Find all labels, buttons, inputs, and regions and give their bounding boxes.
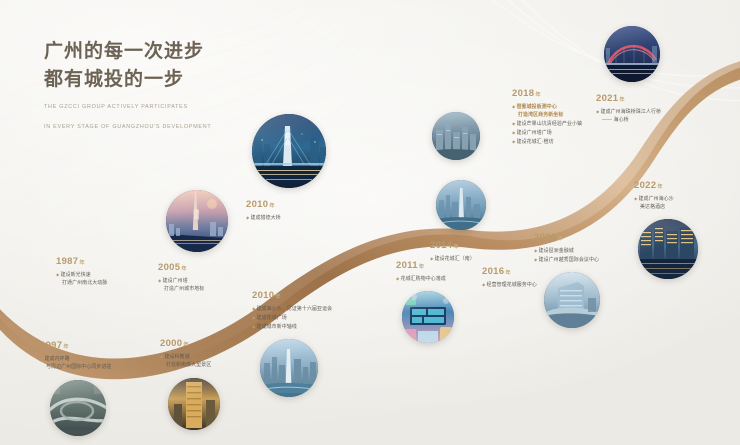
- node-items: ◆建设广州塔 ◆打造广州城市地标: [158, 277, 228, 294]
- node-year: 2021年: [596, 89, 661, 105]
- node-items: ◆建成猎德大桥: [246, 214, 326, 223]
- node-photo-hotel[interactable]: [638, 219, 698, 279]
- bullet-icon: ◆: [40, 356, 43, 361]
- node-meta: 2014年 ◆建设花城汇（南）: [430, 236, 486, 264]
- node-item: ◆建成内环路: [40, 355, 112, 364]
- photo-gloss: [544, 272, 600, 328]
- node-meta: 2005年 ◆建设广州塔 ◆打造广州城市地标: [158, 258, 228, 294]
- node-items: ◆建设琶洲金融城 ◆建设广州越秀国际会议中心: [534, 247, 600, 265]
- node-item: ◆建成广州海心沙: [634, 195, 698, 204]
- node-items: ◆建设科教城 ◆打造新南部大型景区: [160, 353, 220, 370]
- node-items: ◆经营管理花城服务中心: [482, 281, 537, 290]
- node-meta: 1997年 ◆建成内环路 ◆与周边广州国际中心同步进驻: [40, 336, 112, 372]
- node-item: ◆建设广州越秀国际会议中心: [534, 256, 600, 265]
- node-photo-business-hub[interactable]: [432, 112, 480, 160]
- node-meta: 2020年 ◆建设琶洲金融城 ◆建设广州越秀国际会议中心: [534, 228, 600, 265]
- timeline-node-asian-games[interactable]: 2010年 ◆建成海心沙，见证第十六届亚运会 ◆建成花城广场 ◆建成城市新中轴线: [252, 286, 332, 397]
- node-photo-asian-games[interactable]: [260, 339, 318, 397]
- bullet-icon: ◆: [158, 278, 161, 283]
- timeline-node-business-hub-photo[interactable]: [432, 112, 480, 160]
- node-item: ◆建设花城汇·橙坊: [512, 138, 582, 147]
- bullet-icon: ◆: [252, 306, 255, 311]
- timeline-node-ring-road[interactable]: 1997年 ◆建成内环路 ◆与周边广州国际中心同步进驻: [40, 336, 112, 436]
- timeline-node-haixinsha-bridge[interactable]: 2021年 ◆建成广州海珠桥珠江人行桥 ◆—— 海心桥: [596, 26, 661, 125]
- node-item-highlighted: ◆打造湾区商务新坐标: [512, 112, 582, 120]
- timeline-node-liede-bridge[interactable]: 2010年 ◆建成猎德大桥: [246, 114, 326, 223]
- bullet-icon: ◆: [252, 315, 255, 320]
- node-item: ◆建设广州塔: [158, 277, 228, 286]
- node-year: 2016年: [482, 262, 537, 278]
- node-items: ◆建成广州海珠桥珠江人行桥 ◆—— 海心桥: [596, 108, 661, 125]
- node-item: ◆建设花城汇（南）: [430, 255, 486, 264]
- node-year: 2005年: [158, 258, 228, 274]
- node-item: ◆建成城市新中轴线: [252, 323, 332, 332]
- node-item-highlighted: ◆琶氪城投板测中心: [512, 103, 582, 112]
- bullet-icon: ◆: [160, 354, 163, 359]
- node-photo-haixinsha-bridge[interactable]: [604, 26, 660, 82]
- bullet-icon: ◆: [56, 272, 59, 277]
- node-photo-ring-road[interactable]: [50, 380, 106, 436]
- bullet-icon: ◆: [252, 324, 255, 329]
- node-meta: 2021年 ◆建成广州海珠桥珠江人行桥 ◆—— 海心桥: [596, 89, 661, 125]
- bullet-icon: ◆: [512, 130, 515, 135]
- photo-gloss: [166, 190, 228, 252]
- timeline-node-hotel[interactable]: 2022年 ◆建成广州海心沙 ◆美达格酒店: [634, 176, 698, 279]
- bullet-icon: ◆: [246, 215, 249, 220]
- timeline-node-panyu-south[interactable]: 2014年 ◆建设花城汇（南）: [430, 180, 486, 264]
- node-photo-liede-bridge[interactable]: [252, 114, 326, 188]
- node-photo-hi-tech-zone[interactable]: [168, 378, 220, 430]
- bullet-icon: ◆: [596, 109, 599, 114]
- node-meta: 2018年 ◆琶氪城投板测中心 ◆打造湾区商务新坐标 ◆建设芒果山坑清经验产业小…: [512, 84, 582, 148]
- photo-gloss: [50, 380, 106, 436]
- node-meta: 1987年 ◆建设新光快速 ◆打通广州南北大动脉: [56, 252, 107, 288]
- photo-gloss: [436, 180, 486, 230]
- node-year: 2020年: [534, 228, 600, 244]
- node-items: ◆建成内环路 ◆与周边广州国际中心同步进驻: [40, 355, 112, 372]
- node-item: ◆与周边广州国际中心同步进驻: [40, 364, 112, 372]
- bullet-icon: ◆: [534, 248, 537, 253]
- photo-gloss: [432, 112, 480, 160]
- node-year: 2010年: [252, 286, 332, 302]
- timeline-node-huanshi-road[interactable]: 1987年 ◆建设新光快速 ◆打通广州南北大动脉: [56, 252, 107, 288]
- node-items: ◆建设花城汇（南）: [430, 255, 486, 264]
- node-items: ◆琶氪城投板测中心 ◆打造湾区商务新坐标 ◆建设芒果山坑清经验产业小镇 ◆建设广…: [512, 103, 582, 148]
- node-item: ◆建设琶洲金融城: [534, 247, 600, 256]
- timeline-node-jinrong-cheng[interactable]: 2020年 ◆建设琶洲金融城 ◆建设广州越秀国际会议中心: [534, 228, 600, 328]
- node-item: ◆建设广州塔广场: [512, 129, 582, 138]
- node-meta: 2000年 ◆建设科教城 ◆打造新南部大型景区: [160, 334, 220, 370]
- node-year: 1997年: [40, 336, 112, 352]
- node-photo-convention-center[interactable]: [544, 272, 600, 328]
- bullet-icon: ◆: [534, 257, 537, 262]
- photo-gloss: [604, 26, 660, 82]
- node-item: ◆建设新光快速: [56, 271, 107, 280]
- bullet-icon: ◆: [482, 282, 485, 287]
- timeline-node-canton-tower[interactable]: 2005年 ◆建设广州塔 ◆打造广州城市地标: [158, 190, 228, 294]
- node-items: ◆建成广州海心沙 ◆美达格酒店: [634, 195, 698, 212]
- bullet-icon: ◆: [430, 256, 433, 261]
- node-photo-canton-tower[interactable]: [166, 190, 228, 252]
- node-items: ◆建设新光快速 ◆打通广州南北大动脉: [56, 271, 107, 288]
- node-item: ◆打通广州南北大动脉: [56, 280, 107, 288]
- node-item: ◆建成花城广场: [252, 314, 332, 323]
- timeline-node-business-hub[interactable]: 2018年 ◆琶氪城投板测中心 ◆打造湾区商务新坐标 ◆建设芒果山坑清经验产业小…: [512, 84, 582, 148]
- node-item: ◆经营管理花城服务中心: [482, 281, 537, 290]
- photo-gloss: [402, 291, 454, 343]
- node-meta: 2010年 ◆建成猎德大桥: [246, 195, 326, 223]
- node-meta: 2016年 ◆经营管理花城服务中心: [482, 262, 537, 290]
- node-item: ◆花城汇购物中心落成: [396, 275, 454, 284]
- node-item: ◆建成海心沙，见证第十六届亚运会: [252, 305, 332, 314]
- node-photo-flower-city[interactable]: [402, 291, 454, 343]
- photo-gloss: [252, 114, 326, 188]
- node-item: ◆建设科教城: [160, 353, 220, 362]
- timeline-node-service-center[interactable]: 2016年 ◆经营管理花城服务中心: [482, 262, 537, 290]
- node-item: ◆建设芒果山坑清经验产业小镇: [512, 120, 582, 129]
- node-year: 2018年: [512, 84, 582, 100]
- photo-gloss: [168, 378, 220, 430]
- node-photo-panyu-south[interactable]: [436, 180, 486, 230]
- timeline-node-hi-tech-zone[interactable]: 2000年 ◆建设科教城 ◆打造新南部大型景区: [160, 334, 220, 430]
- node-year: 1987年: [56, 252, 107, 268]
- node-year: 2010年: [246, 195, 326, 211]
- node-item: ◆—— 海心桥: [596, 117, 661, 125]
- bullet-icon: ◆: [512, 139, 515, 144]
- node-item: ◆建成猎德大桥: [246, 214, 326, 223]
- node-item: ◆打造广州城市地标: [158, 286, 228, 294]
- node-item: ◆美达格酒店: [634, 204, 698, 212]
- photo-gloss: [260, 339, 318, 397]
- photo-gloss: [638, 219, 698, 279]
- node-item: ◆打造新南部大型景区: [160, 362, 220, 370]
- node-year: 2022年: [634, 176, 698, 192]
- timeline-infographic: 广州的每一次进步 都有城投的一步 THE GZCCI GROUP ACTIVEL…: [0, 0, 740, 445]
- node-items: ◆花城汇购物中心落成: [396, 275, 454, 284]
- bullet-icon: ◆: [634, 196, 637, 201]
- timeline-node-flower-city[interactable]: 2011年 ◆花城汇购物中心落成: [396, 256, 454, 343]
- node-item: ◆建成广州海珠桥珠江人行桥: [596, 108, 661, 117]
- node-year: 2014年: [430, 236, 486, 252]
- bullet-icon: ◆: [512, 104, 515, 109]
- node-items: ◆建成海心沙，见证第十六届亚运会 ◆建成花城广场 ◆建成城市新中轴线: [252, 305, 332, 333]
- node-meta: 2022年 ◆建成广州海心沙 ◆美达格酒店: [634, 176, 698, 212]
- node-meta: 2010年 ◆建成海心沙，见证第十六届亚运会 ◆建成花城广场 ◆建成城市新中轴线: [252, 286, 332, 332]
- node-year: 2000年: [160, 334, 220, 350]
- bullet-icon: ◆: [512, 121, 515, 126]
- bullet-icon: ◆: [396, 276, 399, 281]
